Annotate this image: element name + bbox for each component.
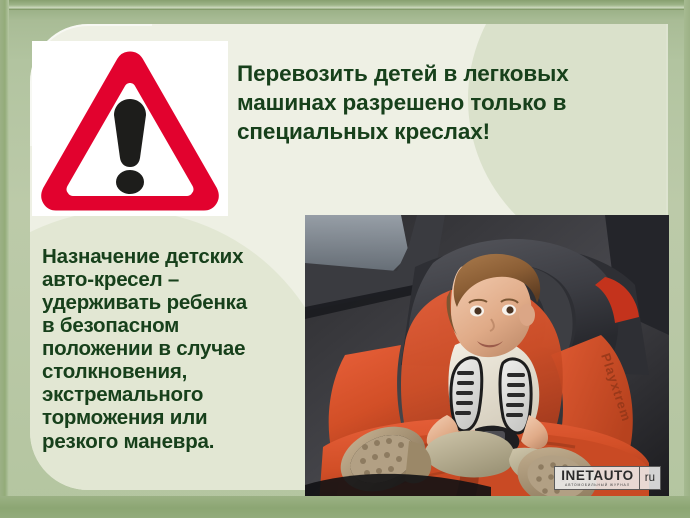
body-line: Назначение детских [42, 245, 314, 268]
car-seat-photo: Playxtrem INETAUTO АВТОМОБИЛЬНЫЙ ЖУРНАЛ … [305, 215, 669, 504]
body-line: резкого маневра. [42, 430, 314, 453]
watermark-subtitle: АВТОМОБИЛЬНЫЙ ЖУРНАЛ [565, 484, 630, 488]
body-line: торможения или [42, 406, 314, 429]
body-line: экстремального [42, 383, 314, 406]
page-title: Перевозить детей в легковых машинах разр… [237, 59, 649, 146]
bottom-border-band [0, 496, 690, 518]
body-line: удерживать ребенка [42, 291, 314, 314]
top-border-band [0, 0, 690, 11]
body-line: авто-кресел – [42, 268, 314, 291]
body-line: столкновения, [42, 360, 314, 383]
exclamation-triangle-warning-icon [32, 41, 228, 216]
slide-canvas: Перевозить детей в легковых машинах разр… [0, 0, 690, 518]
watermark-badge: INETAUTO АВТОМОБИЛЬНЫЙ ЖУРНАЛ ru [554, 466, 661, 490]
left-border-band [0, 0, 9, 518]
warning-sign-card [32, 41, 228, 216]
body-line: положении в случае [42, 337, 314, 360]
body-line: в безопасном [42, 314, 314, 337]
right-border-band [684, 0, 690, 518]
body-text-block: Назначение детских авто-кресел – удержив… [42, 245, 314, 453]
car-seat-photo-illustration: Playxtrem [305, 215, 669, 504]
watermark-main: INETAUTO АВТОМОБИЛЬНЫЙ ЖУРНАЛ [555, 467, 639, 489]
watermark-name: INETAUTO [561, 469, 634, 483]
watermark-tld: ru [639, 467, 660, 489]
